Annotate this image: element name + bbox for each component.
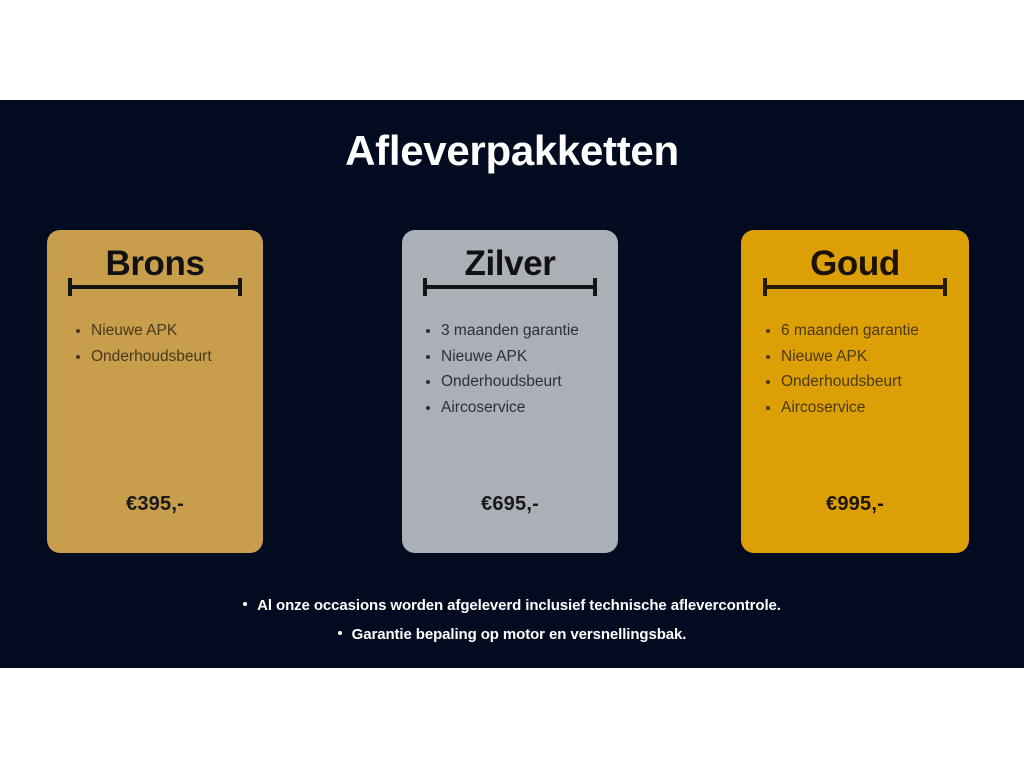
package-card-goud[interactable]: Goud 6 maanden garantie Nieuwe APK Onder… [741,230,969,553]
title-divider-icon [423,278,598,296]
list-item: 6 maanden garantie [764,318,992,344]
package-price-goud: €995,- [741,493,969,516]
feature-list-zilver: 3 maanden garantie Nieuwe APK Onderhouds… [402,318,640,420]
footer-note-text: Al onze occasions worden afgeleverd incl… [257,597,781,614]
divider-bar [68,285,243,289]
divider-bar [423,285,598,289]
list-item: Nieuwe APK [764,344,992,370]
footer-notes: Al onze occasions worden afgeleverd incl… [0,591,1024,649]
divider-cap-right [238,278,242,296]
footer-note: Garantie bepaling op motor en versnellin… [0,620,1024,649]
list-item: Aircoservice [764,395,992,421]
list-item: 3 maanden garantie [424,318,640,344]
list-item: Nieuwe APK [74,318,290,344]
feature-list-brons: Nieuwe APK Onderhoudsbeurt [47,318,290,369]
footer-note: Al onze occasions worden afgeleverd incl… [0,591,1024,620]
package-card-zilver[interactable]: Zilver 3 maanden garantie Nieuwe APK Ond… [402,230,618,553]
list-item: Onderhoudsbeurt [764,369,992,395]
package-price-zilver: €695,- [402,493,618,516]
title-divider-icon [68,278,243,296]
slide-canvas: Afleverpakketten Brons Nieuwe APK Onderh… [0,0,1024,768]
bullet-icon [338,631,342,635]
package-card-brons[interactable]: Brons Nieuwe APK Onderhoudsbeurt €395,- [47,230,263,553]
list-item: Onderhoudsbeurt [424,369,640,395]
list-item: Nieuwe APK [424,344,640,370]
divider-cap-right [943,278,947,296]
page-title: Afleverpakketten [0,127,1024,175]
divider-cap-right [593,278,597,296]
list-item: Onderhoudsbeurt [74,344,290,370]
feature-list-goud: 6 maanden garantie Nieuwe APK Onderhouds… [741,318,992,420]
title-divider-icon [763,278,948,296]
bullet-icon [243,602,247,606]
package-price-brons: €395,- [47,493,263,516]
package-cards: Brons Nieuwe APK Onderhoudsbeurt €395,- … [47,230,968,553]
footer-note-text: Garantie bepaling op motor en versnellin… [352,626,687,643]
list-item: Aircoservice [424,395,640,421]
divider-bar [763,285,948,289]
